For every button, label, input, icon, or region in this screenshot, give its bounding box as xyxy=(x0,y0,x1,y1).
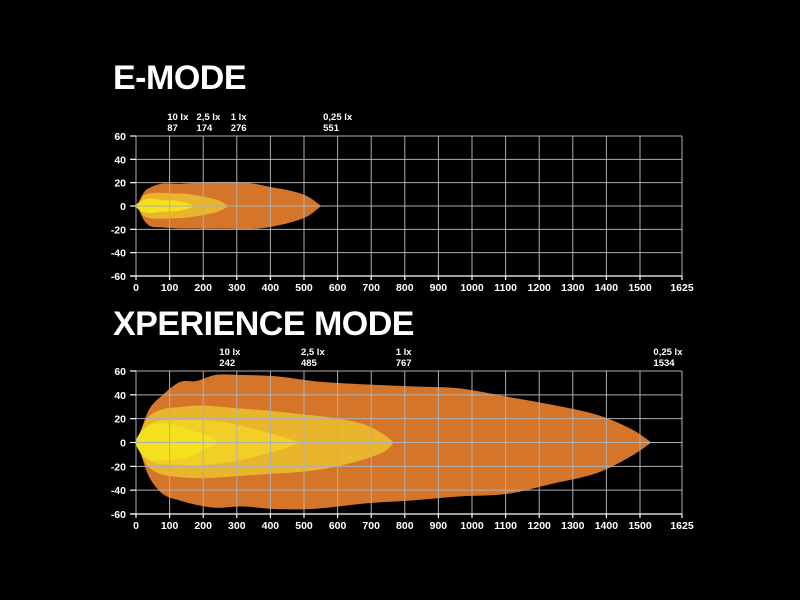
y-tick-label: 0 xyxy=(120,438,126,450)
y-tick-label: -20 xyxy=(111,224,126,236)
y-tick-label: 40 xyxy=(114,390,126,402)
y-tick-label: -60 xyxy=(111,271,126,283)
x-tick-label: 200 xyxy=(194,520,212,532)
y-tick-label: -20 xyxy=(111,461,126,473)
y-tick-label: 0 xyxy=(120,201,126,213)
x-tick-label: 400 xyxy=(262,520,280,532)
x-tick-label: 1400 xyxy=(595,282,619,294)
x-tick-label: 1000 xyxy=(460,282,484,294)
x-tick-label: 1625 xyxy=(670,282,694,294)
x-tick-label: 0 xyxy=(133,520,139,532)
x-tick-label: 700 xyxy=(362,282,380,294)
x-tick-label: 900 xyxy=(430,282,448,294)
x-tick-label: 1500 xyxy=(628,520,652,532)
x-tick-label: 300 xyxy=(228,520,246,532)
x-tick-label: 0 xyxy=(133,282,139,294)
y-axis xyxy=(130,136,136,276)
y-tick-label: 60 xyxy=(114,366,126,378)
y-tick-label: 20 xyxy=(114,414,126,426)
y-tick-label: -40 xyxy=(111,485,126,497)
y-tick-label: -60 xyxy=(111,509,126,521)
x-tick-label: 1625 xyxy=(670,520,694,532)
chart-emode: E-MODE 10 lx872,5 lx1741 lx2760,25 lx551… xyxy=(0,0,800,300)
x-tick-label: 400 xyxy=(262,282,280,294)
x-tick-label: 700 xyxy=(362,520,380,532)
grid xyxy=(136,136,682,276)
beam-pattern-diagram: E-MODE 10 lx872,5 lx1741 lx2760,25 lx551… xyxy=(0,0,800,600)
x-tick-label: 1200 xyxy=(528,282,552,294)
x-tick-label: 800 xyxy=(396,520,414,532)
x-tick-label: 100 xyxy=(161,282,179,294)
x-tick-label: 1200 xyxy=(528,520,552,532)
y-tick-label: 60 xyxy=(114,131,126,143)
y-tick-label: -40 xyxy=(111,248,126,260)
x-tick-label: 200 xyxy=(194,282,212,294)
y-tick-label: 40 xyxy=(114,154,126,166)
x-tick-label: 1400 xyxy=(595,520,619,532)
x-tick-label: 100 xyxy=(161,520,179,532)
x-tick-label: 1100 xyxy=(494,282,517,294)
x-axis xyxy=(130,276,682,280)
x-tick-label: 600 xyxy=(329,520,347,532)
x-tick-label: 1300 xyxy=(561,520,585,532)
x-tick-label: 1300 xyxy=(561,282,585,294)
x-tick-label: 600 xyxy=(329,282,347,294)
x-tick-label: 1100 xyxy=(494,520,517,532)
y-axis xyxy=(130,371,136,514)
x-tick-label: 1500 xyxy=(628,282,652,294)
x-tick-label: 500 xyxy=(295,282,313,294)
plot-area-emode: 0100200300400500600700800900100011001200… xyxy=(0,0,800,300)
plot-area-xperience-mode: 0100200300400500600700800900100011001200… xyxy=(0,300,800,600)
x-tick-label: 800 xyxy=(396,282,414,294)
x-tick-label: 500 xyxy=(295,520,313,532)
x-tick-label: 300 xyxy=(228,282,246,294)
x-tick-label: 1000 xyxy=(460,520,484,532)
chart-xperience-mode: XPERIENCE MODE 10 lx2422,5 lx4851 lx7670… xyxy=(0,300,800,600)
x-axis xyxy=(130,514,682,518)
x-tick-label: 900 xyxy=(430,520,448,532)
y-tick-label: 20 xyxy=(114,178,126,190)
